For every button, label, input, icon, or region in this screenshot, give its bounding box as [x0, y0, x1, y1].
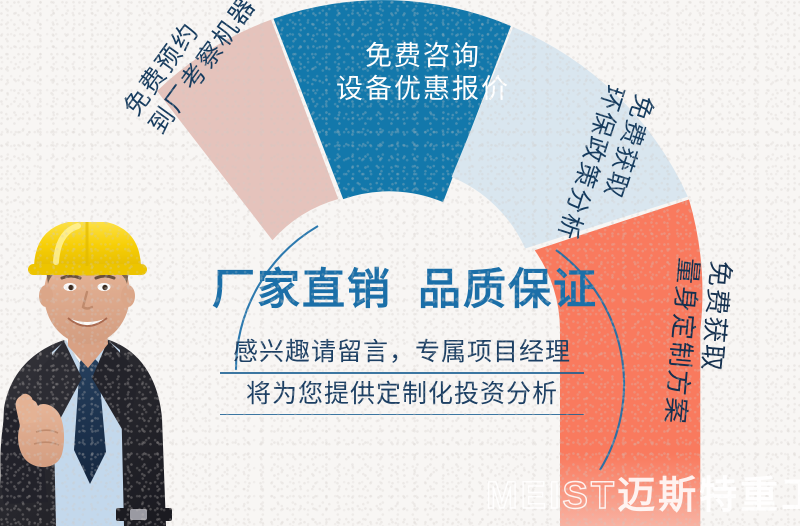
divider-1	[220, 372, 584, 374]
sub-line-2: 将为您提供定制化投资分析	[212, 379, 592, 409]
belt-buckle	[130, 509, 147, 520]
center-message: 厂家直销品质保证 感兴趣请留言，专属项目经理 将为您提供定制化投资分析	[212, 268, 592, 420]
promo-banner: 免费咨询 设备优惠报价 免费预约 到厂考察机器 免费获取 环保政策分析 免费获取…	[0, 0, 800, 526]
watermark-logo: MEIST迈斯特重工	[486, 464, 800, 519]
headline: 厂家直销品质保证	[212, 268, 592, 313]
watermark-chinese: 迈斯特重工	[617, 475, 800, 517]
businessman-photo	[0, 222, 224, 526]
pupil-left	[68, 285, 73, 290]
ear-right	[121, 285, 135, 307]
segment-consult-line2: 设备优惠报价	[336, 73, 510, 106]
ear-left	[39, 285, 53, 307]
segment-consult-line1: 免费咨询	[336, 40, 510, 73]
divider-2	[220, 414, 584, 416]
watermark-latin: MEIST	[486, 475, 617, 517]
sub-line-1: 感兴趣请留言，专属项目经理	[212, 337, 592, 367]
pupil-right	[102, 285, 107, 290]
segment-label-consult: 免费咨询 设备优惠报价	[336, 40, 510, 106]
headline-right: 品质保证	[418, 266, 598, 314]
headline-left: 厂家直销	[212, 266, 392, 314]
